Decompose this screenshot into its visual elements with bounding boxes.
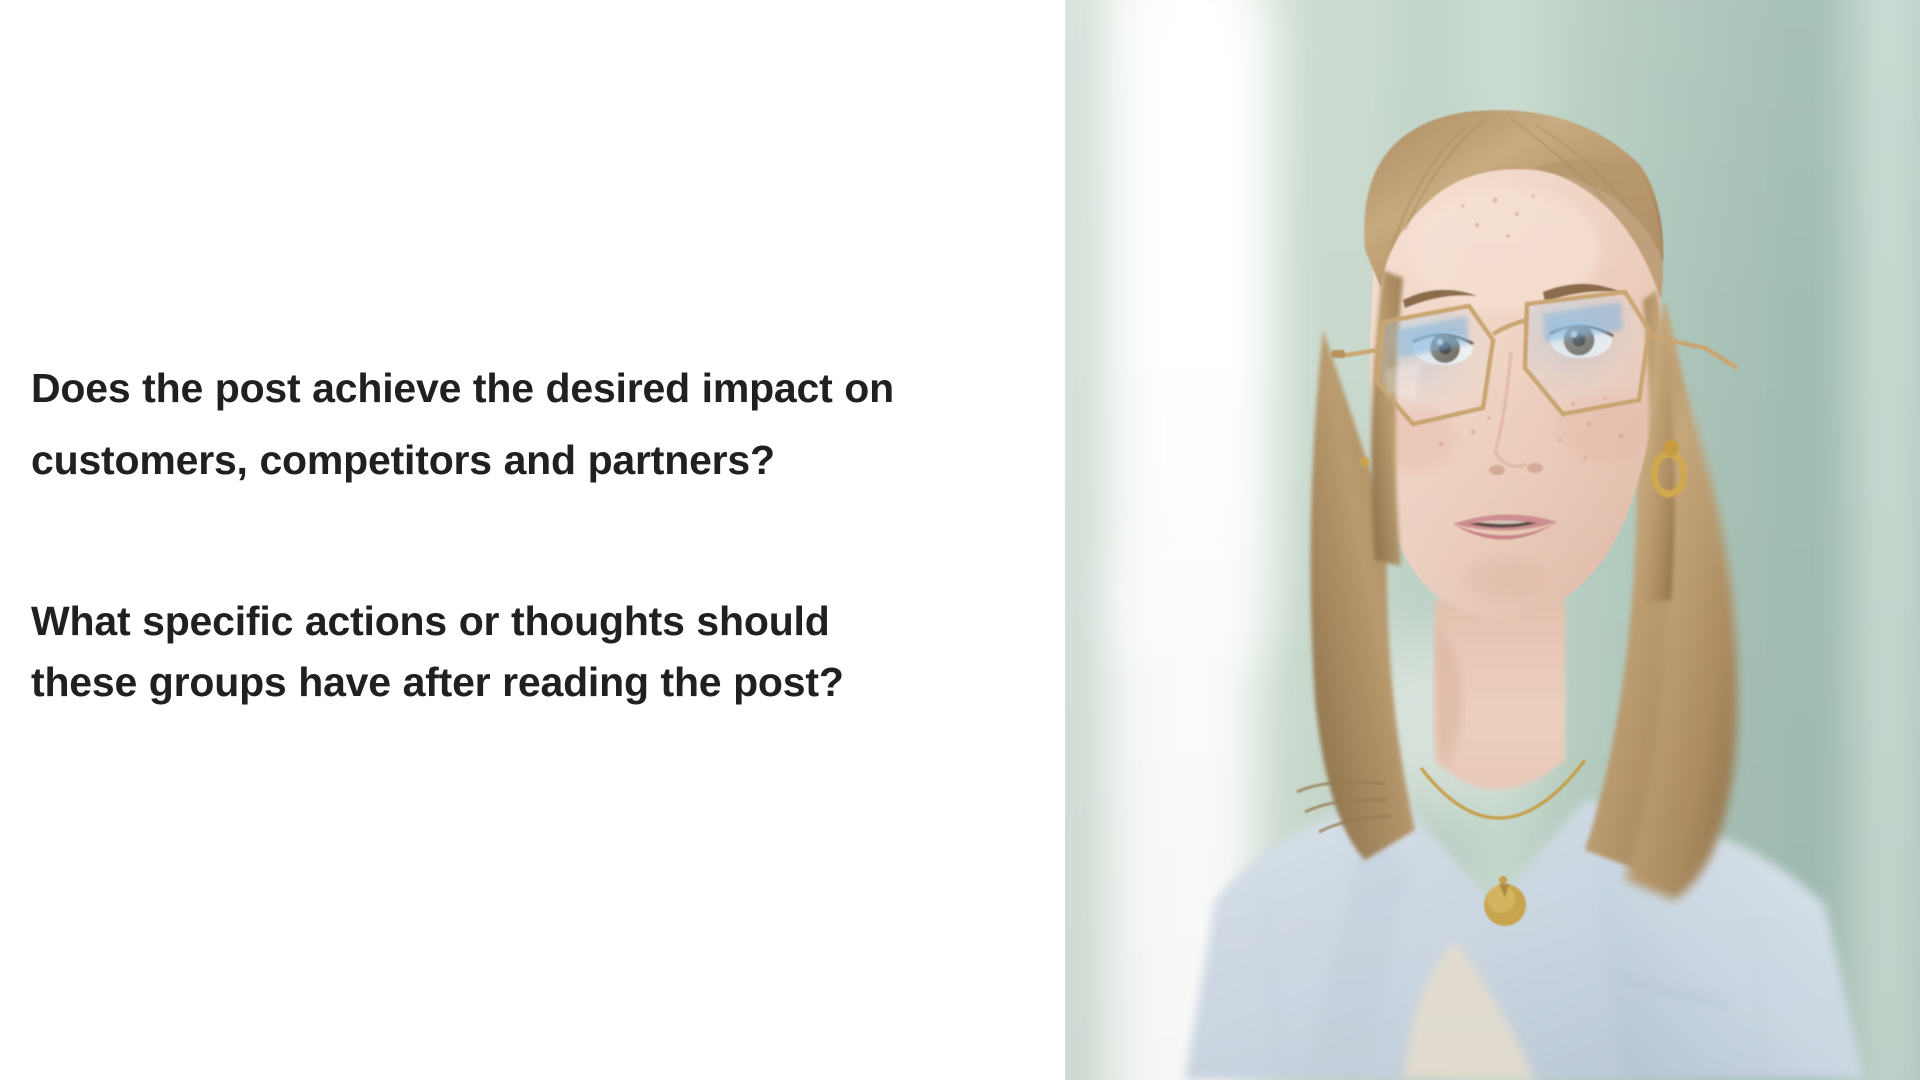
presentation-slide: Does the post achieve the desired impact…	[0, 0, 1920, 1080]
speaker-portrait	[1065, 0, 1920, 1080]
question-block: Does the post achieve the desired impact…	[31, 352, 931, 713]
video-panel	[1065, 0, 1920, 1080]
text-panel: Does the post achieve the desired impact…	[0, 0, 1065, 1080]
question-2: What specific actions or thoughts should…	[31, 591, 931, 713]
question-1: Does the post achieve the desired impact…	[31, 352, 931, 496]
